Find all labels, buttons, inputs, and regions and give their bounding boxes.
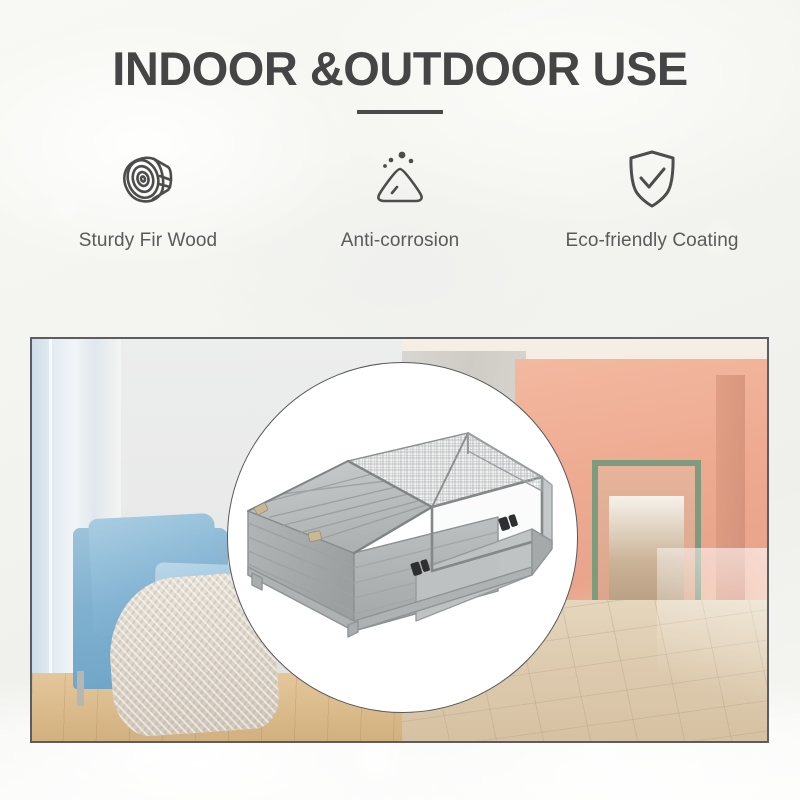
shield-check-icon [616, 140, 688, 218]
product-circle-inset [227, 362, 578, 713]
sunlight-glare [657, 548, 767, 741]
feature-item-sturdy-fir-wood: Sturdy Fir Wood [22, 140, 274, 252]
wood-log-icon [112, 140, 184, 218]
feature-label: Sturdy Fir Wood [79, 230, 217, 252]
sand-particles-icon [364, 140, 436, 218]
feature-label: Anti-corrosion [341, 230, 460, 252]
lifestyle-photo-frame [30, 337, 769, 743]
title-underline-rule [357, 110, 443, 114]
product-feature-banner: INDOOR &OUTDOOR USE Sturdy Fir Wood [0, 0, 800, 800]
feature-item-anti-corrosion: Anti-corrosion [274, 140, 526, 252]
grey-wooden-small-animal-hutch [236, 425, 571, 665]
page-title: INDOOR &OUTDOOR USE [0, 44, 800, 93]
feature-label: Eco-friendly Coating [565, 230, 738, 252]
feature-item-eco-friendly-coating: Eco-friendly Coating [526, 140, 778, 252]
feature-list: Sturdy Fir Wood Anti-corrosion [22, 140, 778, 252]
